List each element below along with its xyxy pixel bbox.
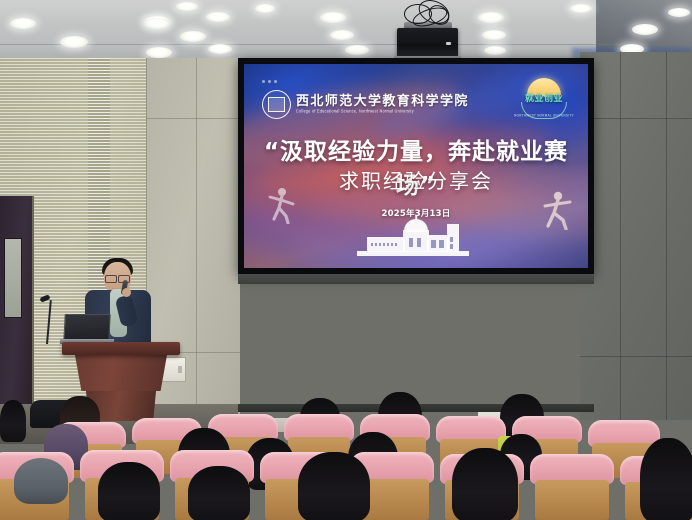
- presentation-slide: 西北师范大学教育科学学院 College of Educational Scie…: [244, 64, 588, 268]
- door-window: [4, 238, 22, 318]
- badge-label: 就业创业: [525, 91, 563, 104]
- downlight: [60, 36, 88, 48]
- attendee-head: [452, 448, 518, 520]
- projector-indicator-led: [446, 42, 451, 45]
- downlight: [478, 12, 504, 23]
- downlight: [345, 45, 369, 55]
- badge-sublabel: NORTHWEST NORMAL UNIVERSITY: [514, 112, 574, 117]
- downlight: [176, 2, 198, 11]
- attendee-head: [640, 438, 692, 520]
- downlight: [146, 47, 172, 58]
- lecture-hall-photo: 西北师范大学教育科学学院 College of Educational Scie…: [0, 0, 692, 520]
- attendee-head: [298, 452, 370, 520]
- downlight: [570, 4, 592, 13]
- downlight: [484, 46, 506, 55]
- downlight: [144, 18, 170, 29]
- downlight: [632, 24, 658, 35]
- right-wall: [580, 52, 692, 420]
- projection-screen: 西北师范大学教育科学学院 College of Educational Scie…: [238, 58, 594, 274]
- downlight: [10, 18, 36, 29]
- downlight: [208, 44, 232, 54]
- downlight: [180, 31, 206, 42]
- downlight: [668, 8, 690, 17]
- attendee-head: [0, 400, 26, 442]
- hall-wall-base: [238, 274, 594, 284]
- downlight: [206, 12, 230, 22]
- attendee-head: [188, 466, 250, 520]
- laptop-on-podium[interactable]: [63, 314, 110, 342]
- downlight: [330, 30, 354, 40]
- presenter-hand: [122, 288, 131, 297]
- attendee-cap: [14, 458, 68, 504]
- attendee-head: [98, 462, 160, 520]
- downlight: [482, 30, 506, 40]
- downlight: [255, 4, 275, 13]
- auditorium-seat[interactable]: [530, 454, 614, 520]
- downlight: [320, 12, 346, 23]
